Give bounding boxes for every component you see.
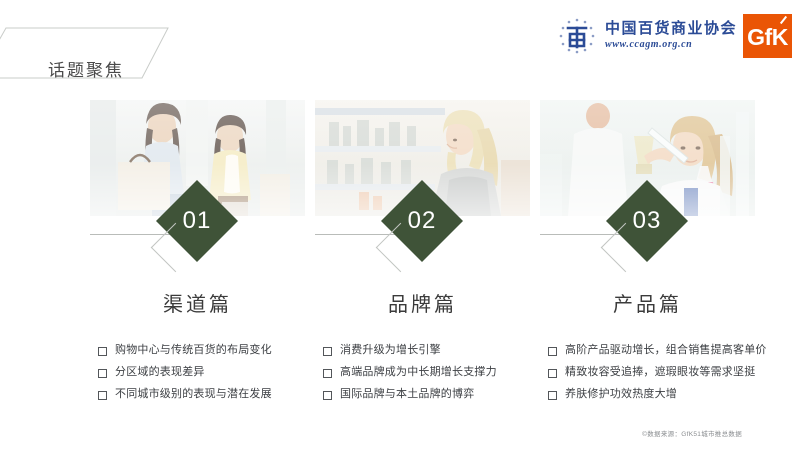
bullet-square-icon xyxy=(548,391,557,400)
ccagm-emblem-icon xyxy=(551,12,603,60)
bullet-square-icon xyxy=(548,369,557,378)
bullet-square-icon xyxy=(548,347,557,356)
section-title-03: 产品篇 xyxy=(540,288,755,317)
source-note: ©数据来源：GfK51城市推总数据 xyxy=(642,428,742,438)
bullet-square-icon xyxy=(98,347,107,356)
slide-canvas: 中国百货商业协会 www.ccagm.org.cn GfK 话题聚焦 xyxy=(0,0,800,450)
section-number-03: 03 xyxy=(618,192,676,250)
bullet-label: 高阶产品驱动增长，组合销售提高客单价 xyxy=(565,343,767,359)
ccagm-wordmark: 中国百货商业协会 www.ccagm.org.cn xyxy=(605,21,737,51)
bullet-square-icon xyxy=(98,369,107,378)
bullet-square-icon xyxy=(98,391,107,400)
brand-bar: 中国百货商业协会 www.ccagm.org.cn GfK xyxy=(551,12,792,60)
bullet-label: 国际品牌与本土品牌的博弈 xyxy=(340,387,474,403)
gfk-logo: GfK xyxy=(743,14,792,58)
bullet-item: 精致妆容受追捧，遮瑕眼妆等需求坚挺 xyxy=(548,365,784,381)
gfk-logo-label: GfK xyxy=(747,26,788,49)
section-title-01: 渠道篇 xyxy=(90,288,305,317)
bullet-square-icon xyxy=(323,347,332,356)
association-url: www.ccagm.org.cn xyxy=(605,38,737,51)
bullet-item: 高阶产品驱动增长，组合销售提高客单价 xyxy=(548,343,784,359)
section-bullets-01: 购物中心与传统百货的布局变化 分区域的表现差异 不同城市级别的表现与潜在发展 xyxy=(98,343,326,403)
bullet-item: 高端品牌成为中长期增长支撑力 xyxy=(323,365,551,381)
bullet-item: 不同城市级别的表现与潜在发展 xyxy=(98,387,326,403)
section-badge-02: 02 xyxy=(315,216,530,278)
section-number-02: 02 xyxy=(393,192,451,250)
section-badge-01: 01 xyxy=(90,216,305,278)
section-badge-03: 03 xyxy=(540,216,755,278)
bullet-label: 不同城市级别的表现与潜在发展 xyxy=(115,387,272,403)
section-number-01: 01 xyxy=(168,192,226,250)
bullet-item: 国际品牌与本土品牌的博弈 xyxy=(323,387,551,403)
section-bullets-03: 高阶产品驱动增长，组合销售提高客单价 精致妆容受追捧，遮瑕眼妆等需求坚挺 养肤修… xyxy=(548,343,784,403)
bullet-label: 精致妆容受追捧，遮瑕眼妆等需求坚挺 xyxy=(565,365,755,381)
section-bullets-02: 消费升级为增长引擎 高端品牌成为中长期增长支撑力 国际品牌与本土品牌的博弈 xyxy=(323,343,551,403)
bullet-item: 购物中心与传统百货的布局变化 xyxy=(98,343,326,359)
bullet-label: 养肤修护功效热度大增 xyxy=(565,387,677,403)
bullet-label: 消费升级为增长引擎 xyxy=(340,343,441,359)
section-column-01: 01 渠道篇 购物中心与传统百货的布局变化 分区域的表现差异 不同城市级别的表现… xyxy=(90,100,315,409)
bullet-label: 购物中心与传统百货的布局变化 xyxy=(115,343,272,359)
bullet-label: 分区域的表现差异 xyxy=(115,365,205,381)
section-columns: 01 渠道篇 购物中心与传统百货的布局变化 分区域的表现差异 不同城市级别的表现… xyxy=(0,100,800,420)
association-name: 中国百货商业协会 xyxy=(605,21,737,38)
section-title-02: 品牌篇 xyxy=(315,288,530,317)
section-column-03: 03 产品篇 高阶产品驱动增长，组合销售提高客单价 精致妆容受追捧，遮瑕眼妆等需… xyxy=(540,100,765,409)
bullet-item: 分区域的表现差异 xyxy=(98,365,326,381)
bullet-square-icon xyxy=(323,369,332,378)
page-title: 话题聚焦 xyxy=(48,56,124,81)
bullet-item: 消费升级为增长引擎 xyxy=(323,343,551,359)
bullet-square-icon xyxy=(323,391,332,400)
bullet-label: 高端品牌成为中长期增长支撑力 xyxy=(340,365,497,381)
bullet-item: 养肤修护功效热度大增 xyxy=(548,387,784,403)
section-column-02: 02 品牌篇 消费升级为增长引擎 高端品牌成为中长期增长支撑力 国际品牌与本土品… xyxy=(315,100,540,409)
